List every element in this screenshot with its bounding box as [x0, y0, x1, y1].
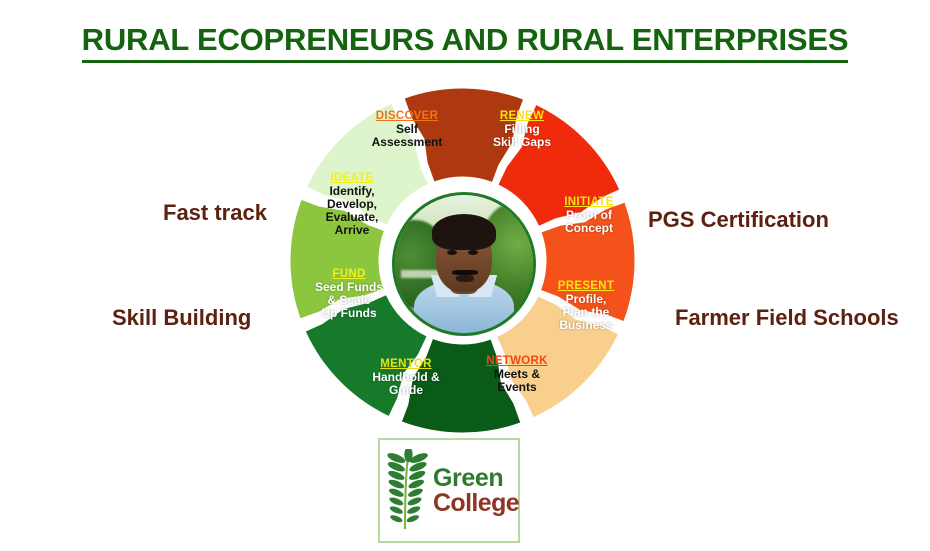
center-portrait-photo: [392, 192, 536, 336]
label-fast-track: Fast track: [163, 200, 267, 226]
cycle-segment-fund[interactable]: [306, 295, 427, 416]
green-college-logo: Green College: [378, 438, 520, 543]
leaf-leaflet: [407, 495, 423, 506]
logo-wordmark: Green College: [433, 466, 519, 516]
cycle-diagram: DISCOVER SelfAssessment RENEW FillingSki…: [285, 88, 640, 433]
cycle-segment-ideate[interactable]: [291, 200, 384, 318]
photo-hair: [432, 214, 495, 250]
photo-eye-right: [468, 250, 478, 255]
logo-word-green: Green: [433, 466, 519, 491]
cycle-segment-present[interactable]: [541, 203, 634, 321]
label-pgs-certification: PGS Certification: [648, 207, 829, 233]
leaf-leaflet: [389, 504, 404, 515]
leaf-leaflet: [407, 477, 425, 489]
cycle-segment-renew[interactable]: [405, 89, 523, 182]
label-farmer-field-schools: Farmer Field Schools: [675, 305, 899, 331]
neem-leaf-icon: [379, 449, 431, 533]
title-block: RURAL ECOPRENEURS AND RURAL ENTERPRISES: [0, 22, 930, 63]
leaf-leaflet: [407, 486, 424, 498]
photo-mouth: [456, 275, 474, 282]
leaf-leaflet: [406, 504, 421, 515]
logo-inner: Green College: [380, 440, 518, 541]
logo-word-college: College: [433, 491, 519, 516]
leaf-leaflet: [406, 513, 420, 523]
cycle-segment-mentor[interactable]: [402, 339, 520, 432]
leaf-tip: [405, 449, 412, 462]
leaf-leaflet: [388, 486, 405, 498]
page-title: RURAL ECOPRENEURS AND RURAL ENTERPRISES: [82, 22, 849, 63]
label-skill-building: Skill Building: [112, 305, 251, 331]
leaf-leaflet: [389, 513, 403, 523]
leaf-leaflet: [388, 495, 404, 506]
